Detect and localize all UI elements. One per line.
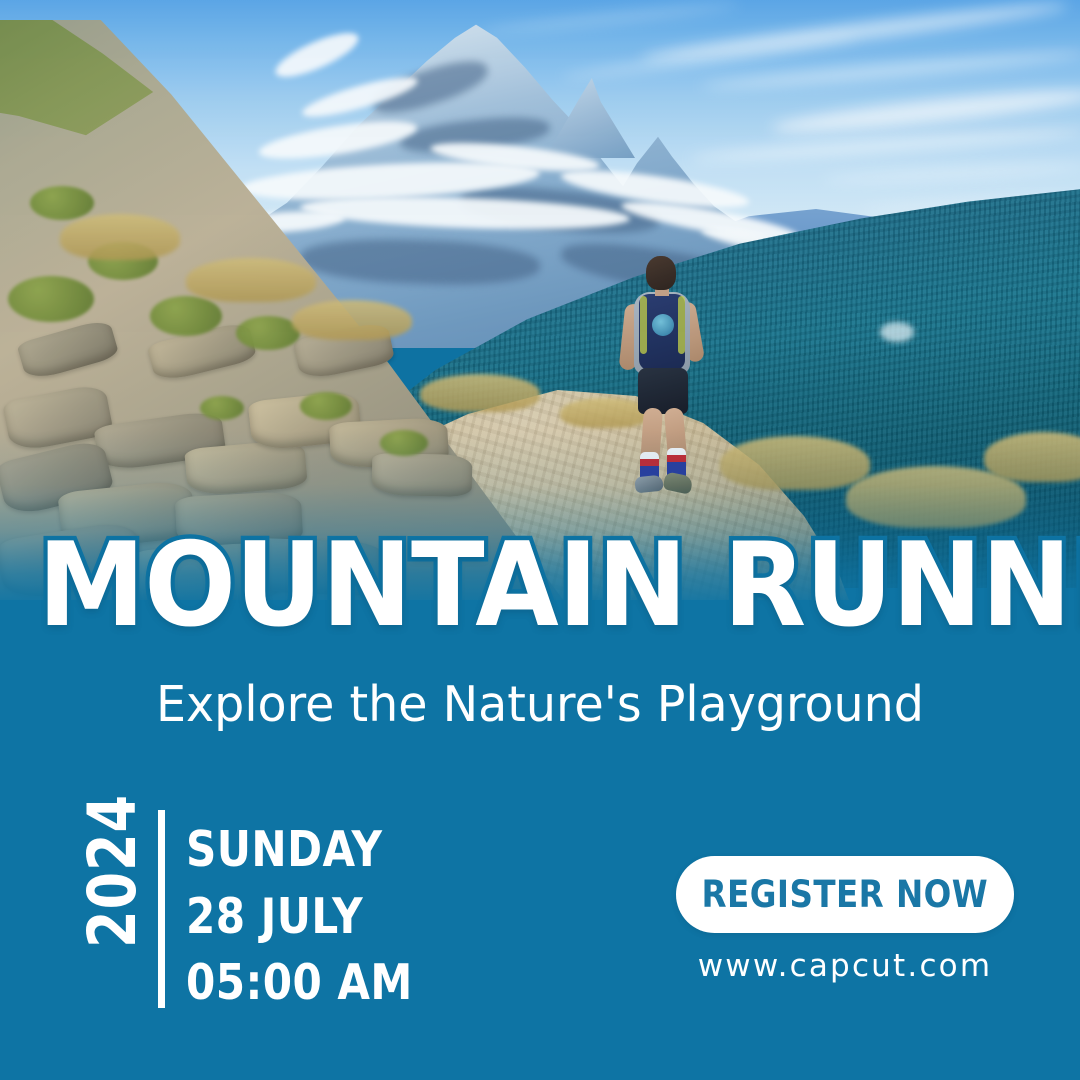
poster-canvas: MOUNTAIN RUNNING Explore the Nature's Pl… (0, 0, 1080, 1080)
page-title: MOUNTAIN RUNNING (38, 528, 1042, 644)
page-subtitle: Explore the Nature's Playground (16, 676, 1064, 733)
event-time: 05:00 AM (186, 951, 413, 1015)
vertical-divider (158, 810, 165, 1008)
event-date: 28 JULY (186, 885, 413, 949)
register-now-button[interactable]: REGISTER NOW (676, 856, 1014, 933)
event-datetime: SUNDAY 28 JULY 05:00 AM (186, 818, 413, 1018)
event-year: 2024 (80, 793, 146, 949)
website-url[interactable]: www.capcut.com (676, 948, 1014, 984)
event-day: SUNDAY (186, 818, 413, 882)
register-now-label: REGISTER NOW (702, 873, 989, 916)
